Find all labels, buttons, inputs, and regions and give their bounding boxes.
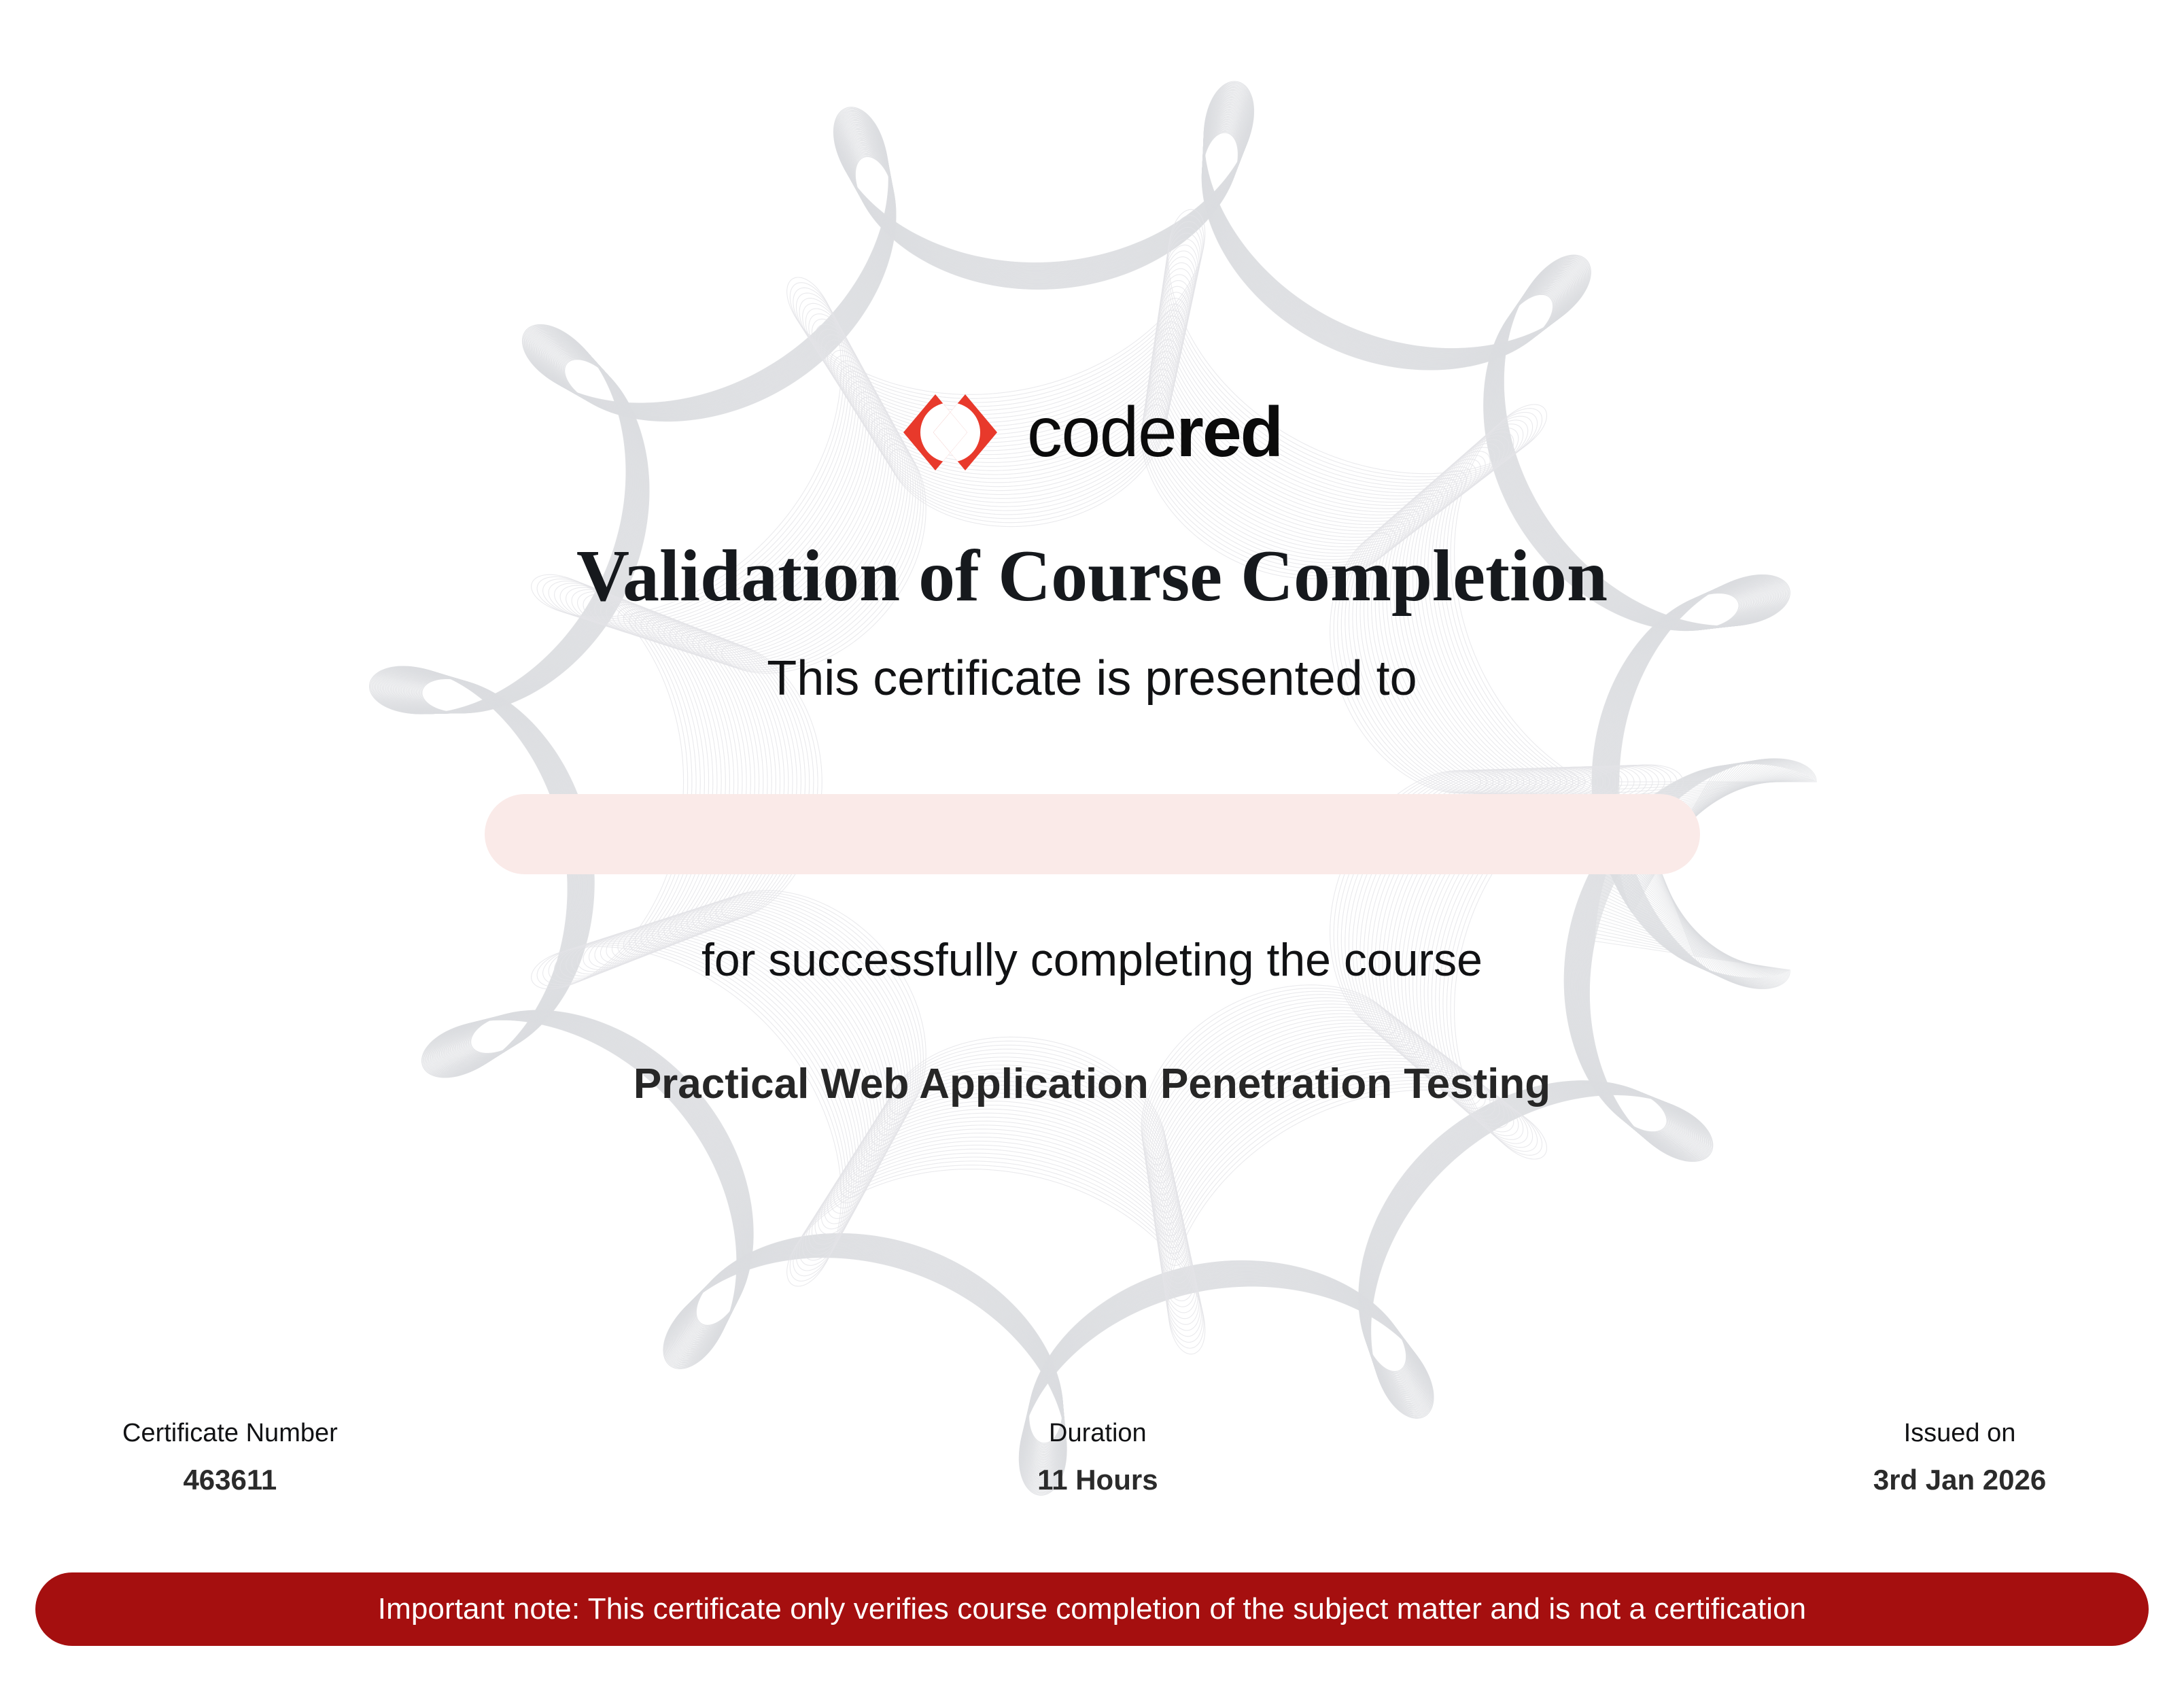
- meta-issued-on: Issued on 3rd Jan 2026: [1858, 1417, 2062, 1498]
- brand-logo: codered: [0, 393, 2184, 472]
- certificate-number-value: 463611: [122, 1462, 338, 1498]
- wordmark-code: code: [1027, 397, 1177, 468]
- issued-on-label: Issued on: [1858, 1417, 2062, 1450]
- codered-diamond-icon: [902, 393, 999, 472]
- completion-line: for successfully completing the course: [0, 933, 2184, 988]
- certificate-canvas: codered Validation of Course Completion …: [0, 0, 2184, 1686]
- course-title: Practical Web Application Penetration Te…: [0, 1059, 2184, 1109]
- duration-value: 11 Hours: [996, 1462, 1200, 1498]
- disclaimer-banner: Important note: This certificate only ve…: [35, 1572, 2149, 1646]
- duration-label: Duration: [996, 1417, 1200, 1450]
- certificate-number-label: Certificate Number: [122, 1417, 338, 1450]
- disclaimer-text: Important note: This certificate only ve…: [378, 1594, 1807, 1624]
- meta-duration: Duration 11 Hours: [996, 1417, 1200, 1498]
- meta-certificate-number: Certificate Number 463611: [122, 1417, 338, 1498]
- wordmark-red: red: [1176, 397, 1282, 468]
- codered-wordmark: codered: [1027, 397, 1282, 468]
- recipient-name-highlight: [485, 794, 1700, 874]
- issued-on-value: 3rd Jan 2026: [1858, 1462, 2062, 1498]
- certificate-headline: Validation of Course Completion: [0, 537, 2184, 617]
- certificate-meta-row: Certificate Number 463611 Duration 11 Ho…: [122, 1417, 2062, 1498]
- presented-to-line: This certificate is presented to: [0, 649, 2184, 708]
